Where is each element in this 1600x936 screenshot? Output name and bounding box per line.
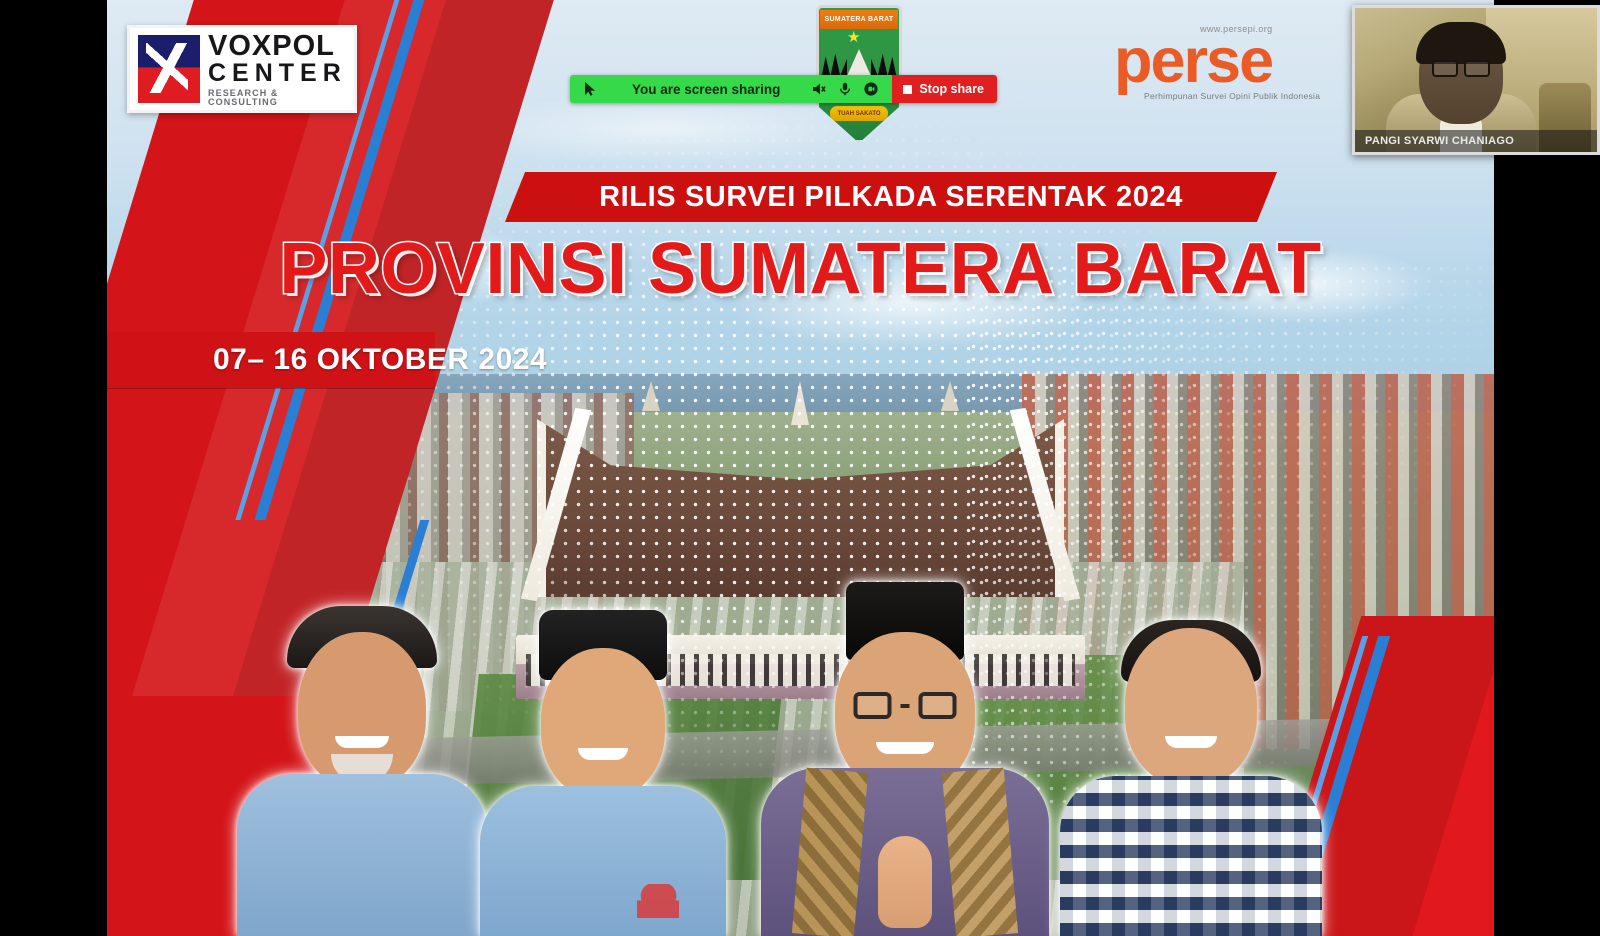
emblem-motto-text: TUAH SAKATO [837, 111, 880, 117]
voxpol-logo: VOXPOL CENTER RESEARCH & CONSULTING [127, 25, 357, 113]
province-headline: PROVINSI SUMATERA BARAT [107, 228, 1494, 310]
speaker-mute-icon[interactable] [806, 76, 832, 102]
emblem-top-banner: SUMATERA BARAT [820, 10, 898, 29]
participant-video-thumbnail[interactable]: PANGI SYARWI CHANIAGO [1352, 5, 1600, 155]
candidate-3-smile [876, 742, 934, 754]
emblem-top-text: SUMATERA BARAT [824, 16, 893, 23]
video-circle-icon[interactable] [858, 76, 884, 102]
candidate-3-praying-hands [878, 836, 932, 928]
voxpol-logo-tagline: RESEARCH & CONSULTING [208, 89, 347, 107]
candidate-4-face [1125, 628, 1257, 786]
share-status-group: You are screen sharing [570, 75, 892, 103]
participant-name-badge: PANGI SYARWI CHANIAGO [1355, 130, 1597, 152]
survey-release-banner: RILIS SURVEI PILKADA SERENTAK 2024 [505, 172, 1277, 222]
survey-release-title: RILIS SURVEI PILKADA SERENTAK 2024 [599, 181, 1183, 214]
voxpol-logo-line1: VOXPOL [208, 32, 347, 61]
candidate-photo-row [107, 566, 1494, 936]
candidate-2-shirt-emblem [637, 884, 679, 918]
candidate-2-face [541, 648, 665, 798]
candidate-4-checkered-shirt [1060, 776, 1322, 936]
zoom-meeting-viewport: 07– 16 OKTOBER 2024 VOXPOL CENTER RESEAR… [0, 0, 1600, 936]
candidate-2-shirt [480, 786, 726, 936]
persepi-wordmark: perse [1114, 36, 1374, 88]
mosque-spire-left [642, 381, 660, 411]
west-sumatra-emblem: SUMATERA BARAT TUAH SAKATO [816, 5, 902, 143]
voxpol-checkmark-icon [138, 35, 200, 103]
voxpol-wordmark: VOXPOL CENTER RESEARCH & CONSULTING [208, 32, 347, 107]
microphone-icon[interactable] [832, 76, 858, 102]
candidate-photo-4 [1057, 584, 1325, 936]
persepi-tagline: Perhimpunan Survei Opini Publik Indonesi… [1144, 91, 1374, 101]
shared-screen-slide: 07– 16 OKTOBER 2024 VOXPOL CENTER RESEAR… [107, 0, 1494, 936]
candidate-photo-1 [232, 586, 492, 936]
candidate-photo-3 [755, 576, 1055, 936]
emblem-motto-banner: TUAH SAKATO [830, 106, 888, 121]
participant-glasses-icon [1432, 60, 1490, 77]
candidate-2-smile [578, 748, 628, 760]
stop-share-label: Stop share [919, 82, 984, 96]
stop-square-icon [903, 85, 912, 94]
mosque-spire-center [791, 381, 809, 425]
date-banner: 07– 16 OKTOBER 2024 [107, 332, 435, 388]
date-range-text: 07– 16 OKTOBER 2024 [213, 343, 547, 377]
stop-share-button[interactable]: Stop share [892, 75, 997, 103]
persepi-logo: www.persepi.org perse Perhimpunan Survei… [1114, 24, 1374, 124]
candidate-photo-2 [475, 596, 731, 936]
screen-share-toolbar[interactable]: You are screen sharing [570, 75, 997, 103]
cursor-arrow-icon [582, 81, 598, 97]
voxpol-logo-line2: CENTER [208, 61, 347, 86]
candidate-4-smile [1165, 736, 1217, 748]
candidate-3-glasses-icon [854, 692, 957, 719]
share-status-label: You are screen sharing [632, 82, 780, 97]
participant-name-label: PANGI SYARWI CHANIAGO [1365, 135, 1514, 147]
mosque-spire-right [941, 381, 959, 411]
candidate-1-shirt [237, 774, 487, 936]
candidate-1-smile [335, 736, 389, 748]
